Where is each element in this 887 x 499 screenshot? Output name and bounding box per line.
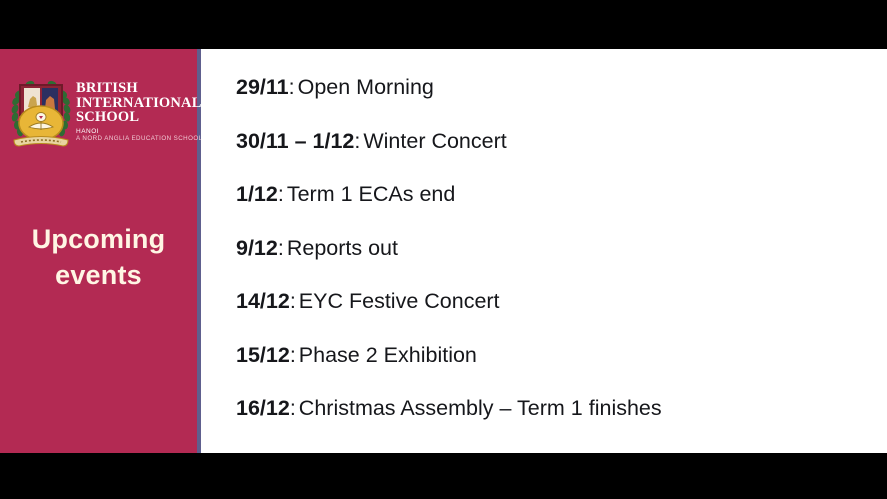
slide-stage: BRITISH INTERNATIONAL SCHOOL HANOI A NOR… [0,0,887,499]
slide-canvas: BRITISH INTERNATIONAL SCHOOL HANOI A NOR… [0,49,887,453]
event-separator: : [289,75,295,99]
event-title: Term 1 ECAs end [284,182,455,206]
event-date: 9/12 [236,236,278,260]
event-separator: : [290,396,296,420]
event-title: EYC Festive Concert [296,289,500,313]
school-logo: BRITISH INTERNATIONAL SCHOOL HANOI A NOR… [6,75,197,159]
school-wordmark: BRITISH INTERNATIONAL SCHOOL HANOI [76,81,196,136]
event-row: 15/12:Phase 2 Exhibition [236,329,877,383]
event-separator: : [290,289,296,313]
event-title: Phase 2 Exhibition [296,343,477,367]
panel-heading-line-1: Upcoming [0,221,197,257]
event-date: 15/12 [236,343,290,367]
events-area: 29/11:Open Morning 30/11 – 1/12:Winter C… [201,49,887,453]
event-date: 30/11 – 1/12 [236,129,354,153]
school-crest-icon [8,75,74,155]
event-title: Winter Concert [360,129,506,153]
panel-heading-line-2: events [0,257,197,293]
brand-panel: BRITISH INTERNATIONAL SCHOOL HANOI A NOR… [0,49,201,453]
event-row: 9/12:Reports out [236,222,877,276]
event-row: 29/11:Open Morning [236,61,877,115]
event-row: 30/11 – 1/12:Winter Concert [236,115,877,169]
event-date: 29/11 [236,75,289,99]
event-title: Christmas Assembly – Term 1 finishes [296,396,662,420]
event-date: 14/12 [236,289,290,313]
event-date: 1/12 [236,182,278,206]
events-list: 29/11:Open Morning 30/11 – 1/12:Winter C… [236,61,877,436]
event-row: 1/12:Term 1 ECAs end [236,168,877,222]
panel-heading: Upcoming events [0,221,197,293]
event-separator: : [278,182,284,206]
event-title: Reports out [284,236,398,260]
school-name-line-2: INTERNATIONAL [76,96,196,111]
event-row: 16/12:Christmas Assembly – Term 1 finish… [236,382,877,436]
school-name-line-3: SCHOOL [76,110,196,125]
event-row: 14/12:EYC Festive Concert [236,275,877,329]
event-separator: : [278,236,284,260]
event-title: Open Morning [295,75,434,99]
school-name-line-1: BRITISH [76,81,196,96]
event-date: 16/12 [236,396,290,420]
school-tagline: A NORD ANGLIA EDUCATION SCHOOL [76,135,203,143]
event-separator: : [290,343,296,367]
